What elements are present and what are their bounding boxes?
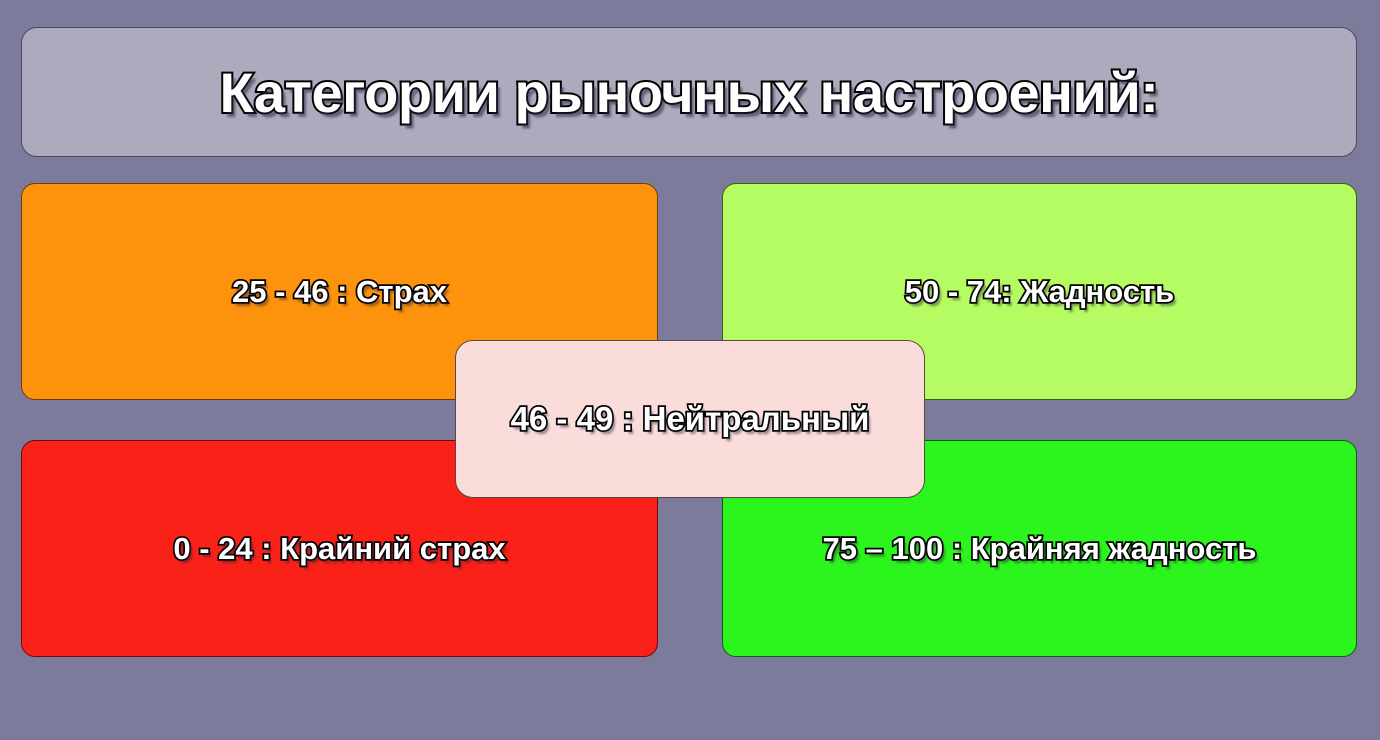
card-neutral-label: 46 - 49 : Нейтральный — [511, 400, 870, 438]
card-neutral[interactable]: 46 - 49 : Нейтральный — [455, 340, 925, 498]
page-title: Категории рыночных настроений: — [220, 60, 1159, 125]
card-greed-label: 50 - 74: Жадность — [905, 274, 1175, 310]
card-fear-label: 25 - 46 : Страх — [232, 274, 447, 310]
header-banner: Категории рыночных настроений: — [21, 27, 1357, 157]
card-extreme-greed-label: 75 – 100 : Крайняя жадность — [823, 531, 1257, 567]
sentiment-categories-board: Категории рыночных настроений: 25 - 46 :… — [0, 0, 1380, 740]
card-extreme-fear-label: 0 - 24 : Крайний страх — [173, 531, 505, 567]
